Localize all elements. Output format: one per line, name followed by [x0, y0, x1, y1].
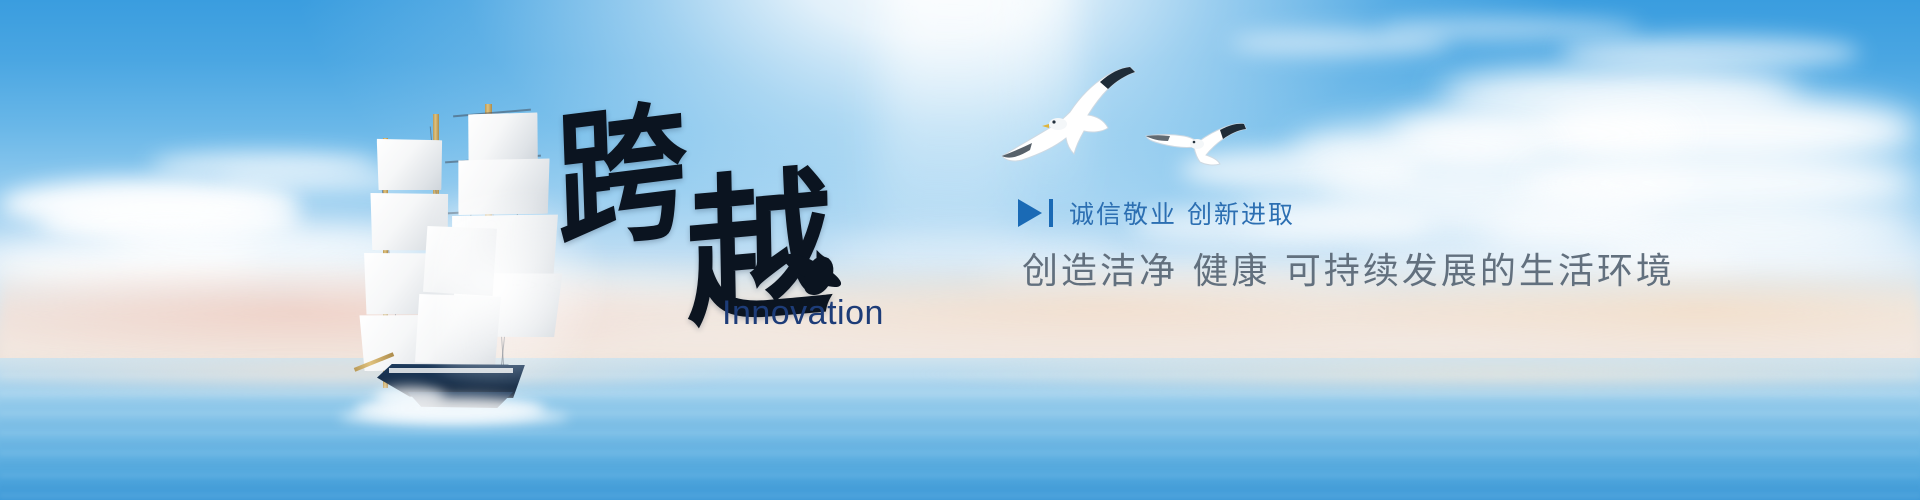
cloud-8 [1380, 18, 1640, 40]
headline-subtitle-en: Innovation [722, 294, 884, 333]
seagull-small [1142, 92, 1248, 168]
play-triangle-icon [1018, 199, 1042, 227]
water-ripple-12 [0, 494, 1920, 498]
calligraphy-char-kua: 跨 [554, 96, 690, 260]
slogan-line-2: 创造洁净 健康 可持续发展的生活环境 [1022, 242, 1638, 294]
water-ripple-7 [0, 442, 1920, 446]
seagull-large [996, 58, 1142, 166]
horizon-reflection [0, 358, 1920, 414]
water-ripple-9 [0, 462, 1920, 467]
water-ripple-8 [0, 452, 1920, 455]
water-ripple-5 [0, 422, 1920, 426]
hero-banner: 跨 越 Innovation 诚信敬业 创新进取 创造洁净 健康 可持续发展的生… [0, 0, 1920, 500]
cloud-9 [1560, 36, 1860, 70]
water-ripple-10 [0, 474, 1920, 477]
vertical-bar-icon [1049, 199, 1053, 227]
slogan-row-primary: 诚信敬业 创新进取 [1018, 196, 1638, 230]
tall-sailing-ship [345, 78, 580, 378]
water-ripple-11 [0, 484, 1920, 489]
water-ripple-6 [0, 432, 1920, 435]
slogan-line-1: 诚信敬业 创新进取 [1069, 195, 1295, 231]
slogan-block: 诚信敬业 创新进取 创造洁净 健康 可持续发展的生活环境 [1018, 196, 1638, 294]
